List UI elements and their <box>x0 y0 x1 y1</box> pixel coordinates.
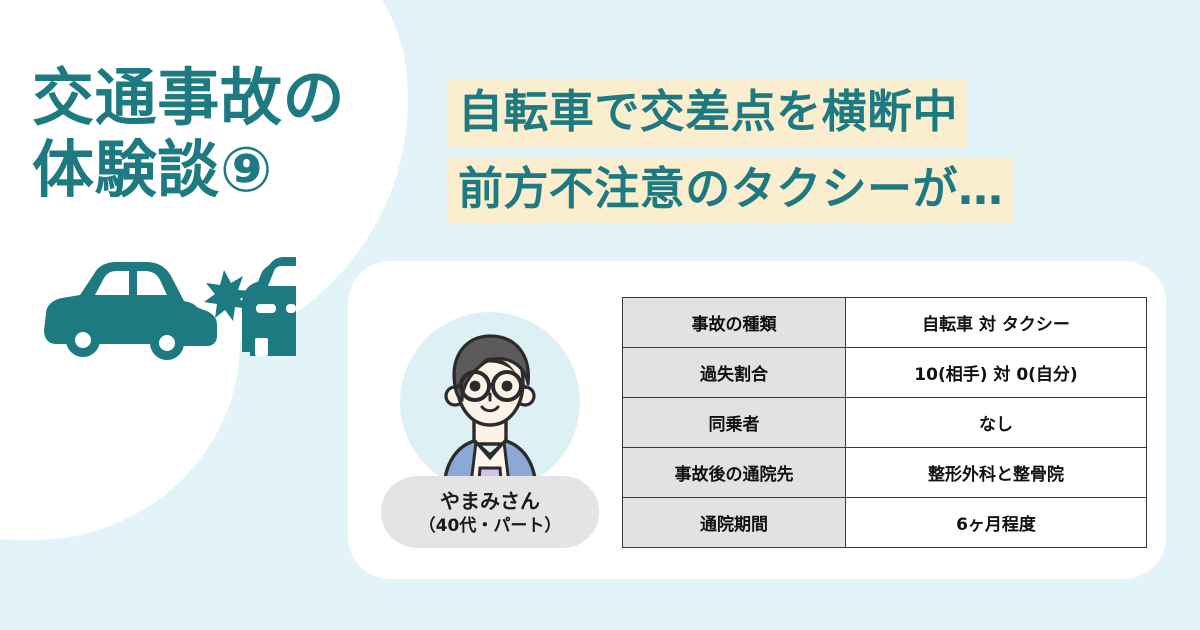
profile-name: やまみさん <box>440 489 540 513</box>
table-cell-label: 事故後の通院先 <box>623 448 846 498</box>
accident-info-table: 事故の種類 自転車 対 タクシー 過失割合 10(相手) 対 0(自分) 同乗者… <box>622 297 1147 548</box>
table-cell-label: 事故の種類 <box>623 298 846 348</box>
table-cell-label: 過失割合 <box>623 348 846 398</box>
table-row: 過失割合 10(相手) 対 0(自分) <box>623 348 1147 398</box>
page-title: 交通事故の 体験談⑨ <box>32 62 402 206</box>
table-row: 同乗者 なし <box>623 398 1147 448</box>
car-crash-icon <box>28 252 296 372</box>
accident-info-table-body: 事故の種類 自転車 対 タクシー 過失割合 10(相手) 対 0(自分) 同乗者… <box>623 298 1147 548</box>
headline: 自転車で交差点を横断中 前方不注意のタクシーが… <box>448 80 1013 234</box>
table-cell-value: 自転車 対 タクシー <box>846 298 1147 348</box>
table-cell-label: 同乗者 <box>623 398 846 448</box>
profile-attributes: （40代・パート） <box>419 515 562 537</box>
avatar <box>400 312 580 492</box>
headline-row-1: 自転車で交差点を横断中 <box>448 80 1013 147</box>
headline-line-1: 自転車で交差点を横断中 <box>448 80 968 147</box>
table-cell-label: 通院期間 <box>623 498 846 548</box>
page-title-line-1: 交通事故の <box>32 62 402 134</box>
headline-line-2: 前方不注意のタクシーが… <box>448 157 1013 224</box>
headline-row-2: 前方不注意のタクシーが… <box>448 157 1013 224</box>
table-cell-value: 整形外科と整骨院 <box>846 448 1147 498</box>
table-row: 事故後の通院先 整形外科と整骨院 <box>623 448 1147 498</box>
profile-name-badge: やまみさん （40代・パート） <box>381 476 599 548</box>
table-cell-value: なし <box>846 398 1147 448</box>
poster-canvas: 交通事故の 体験談⑨ <box>0 0 1200 630</box>
table-row: 事故の種類 自転車 対 タクシー <box>623 298 1147 348</box>
table-cell-value: 10(相手) 対 0(自分) <box>846 348 1147 398</box>
page-title-line-2: 体験談⑨ <box>32 134 402 206</box>
table-cell-value: 6ヶ月程度 <box>846 498 1147 548</box>
table-row: 通院期間 6ヶ月程度 <box>623 498 1147 548</box>
profile-block: やまみさん （40代・パート） <box>381 312 599 558</box>
